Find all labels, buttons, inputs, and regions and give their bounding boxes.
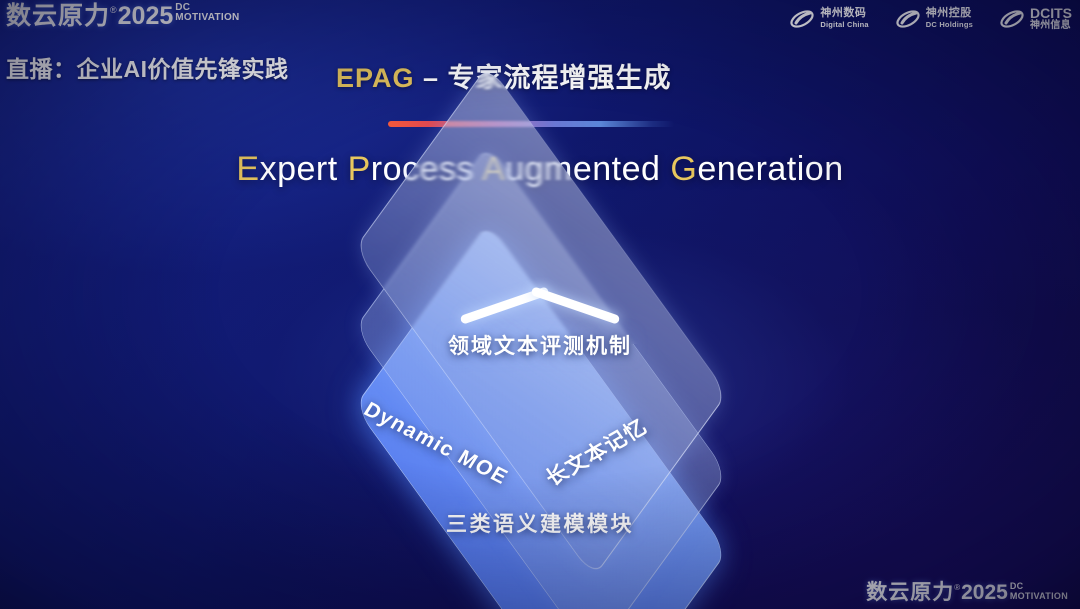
watermark-year: 2025 <box>961 581 1008 605</box>
diagram-layer-bottom-label: 三类语义建模模块 <box>0 508 1080 538</box>
headline-word-generation: Generation <box>670 150 843 188</box>
headline-cap-e: E <box>236 150 259 188</box>
logo-en-dcits: DCITS <box>1030 6 1072 20</box>
logo-text-digital-china: 神州数码 Digital China <box>820 8 868 29</box>
diagram-layer-top-label: 领域文本评测机制 <box>0 330 1080 360</box>
headline-rest-expert: xpert <box>260 150 338 188</box>
brand-registered-mark: ® <box>110 4 117 16</box>
partner-logo-group: 神州数码 Digital China 神州控股 DC Holdings <box>789 6 1072 31</box>
swoosh-icon <box>789 8 815 30</box>
slide-title-rest: – 专家流程增强生成 <box>415 63 672 93</box>
logo-digital-china: 神州数码 Digital China <box>789 8 868 30</box>
swoosh-icon <box>895 8 921 30</box>
headline-word-expert: Expert <box>236 150 337 188</box>
brand-year: 2025 <box>118 2 174 30</box>
logo-dc-holdings: 神州控股 DC Holdings <box>895 8 973 30</box>
logo-cn-digital-china: 神州数码 <box>820 8 868 19</box>
logo-dcits: DCITS 神州信息 <box>999 6 1072 31</box>
watermark-dc-line1: DC <box>1010 582 1068 591</box>
logo-text-dcits: DCITS 神州信息 <box>1030 6 1072 31</box>
brand-dc-motivation: DC MOTIVATION <box>175 3 239 22</box>
brand-mark: 数云原力 ® 2025 DC MOTIVATION <box>6 2 240 30</box>
live-banner-label: 直播：企业AI价值先锋实践 <box>6 50 289 84</box>
chevron-up-icon <box>457 272 623 316</box>
watermark-dc-line2: MOTIVATION <box>1010 592 1068 601</box>
watermark-brand: 数云原力 ® 2025 DC MOTIVATION <box>866 581 1068 605</box>
brand-dc-line1: DC <box>175 3 239 12</box>
swoosh-icon <box>999 8 1025 30</box>
watermark-registered-mark: ® <box>954 583 960 593</box>
watermark-name-cn: 数云原力 <box>866 581 954 605</box>
headline-rest-generation: eneration <box>697 150 843 188</box>
headline-cap-g: G <box>670 150 697 188</box>
logo-en-digital-china: Digital China <box>820 21 868 29</box>
brand-name-cn: 数云原力 <box>6 2 110 30</box>
logo-cn-dcits: 神州信息 <box>1030 21 1072 31</box>
logo-cn-dc-holdings: 神州控股 <box>926 8 973 19</box>
slide-title-accent: EPAG <box>336 63 415 93</box>
watermark-dc-motivation: DC MOTIVATION <box>1010 582 1068 601</box>
headline-cap-p: P <box>348 150 371 188</box>
brand-dc-line2: MOTIVATION <box>175 13 239 22</box>
slide-canvas: 数云原力 ® 2025 DC MOTIVATION 直播：企业AI价值先锋实践 … <box>0 0 1080 609</box>
logo-text-dc-holdings: 神州控股 DC Holdings <box>926 8 973 29</box>
logo-en-dc-holdings: DC Holdings <box>926 21 973 29</box>
